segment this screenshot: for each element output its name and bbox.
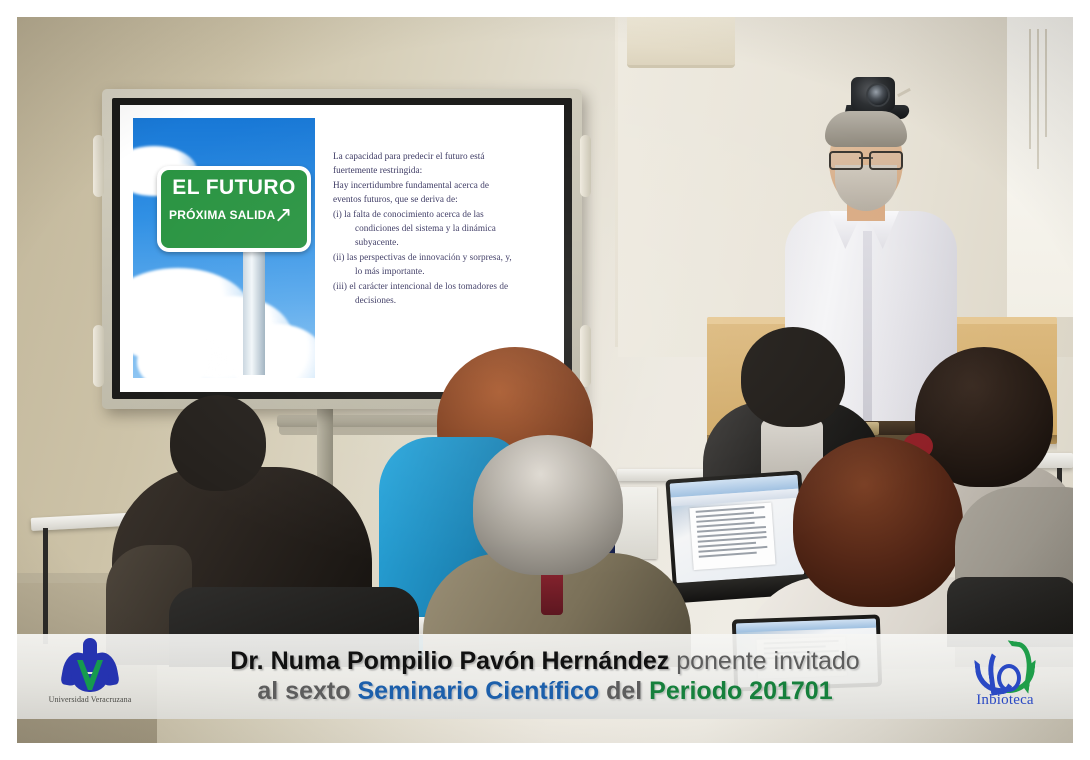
eyeglasses-icon [829, 151, 903, 166]
audience-head [473, 435, 623, 575]
caption-line-2: al sexto Seminario Científico del Period… [157, 677, 933, 707]
speaker-role: ponente invitado [669, 647, 859, 675]
inbioteca-logo: Inbioteca [946, 642, 1064, 718]
logo-label: Universidad Veracruzana [30, 695, 150, 704]
presenter-hair [825, 111, 907, 147]
fleur-de-lis-icon [57, 640, 123, 692]
slide-line: eventos futuros, que se deriva de: [333, 192, 550, 206]
camera-body [851, 77, 895, 111]
watermark-label: Banco [143, 364, 173, 370]
slide-line: decisiones. [333, 293, 550, 307]
road-sign-subtitle: PRÓXIMA SALIDA [169, 208, 275, 222]
window-right [1007, 17, 1073, 317]
slide-line: condiciones del sistema y la dinámica [333, 221, 550, 235]
event-name: Seminario Científico [357, 677, 599, 705]
blind-cord [1029, 29, 1031, 149]
board-handle [580, 135, 591, 197]
audience-head [793, 437, 963, 607]
board-handle [93, 135, 104, 197]
slide-line: La capacidad para predecir el futuro est… [333, 149, 550, 163]
period-label: Periodo 201701 [649, 677, 832, 705]
arrow-up-right-icon: ↗ [274, 206, 296, 228]
plant-flame-icon [974, 642, 1036, 690]
audience-head [170, 395, 266, 491]
camera-lens-icon [868, 85, 888, 105]
desk-leg [43, 528, 48, 644]
slide-line: (i) la falta de conocimiento acerca de l… [333, 207, 550, 221]
slide-photo-road-sign: EL FUTURO PRÓXIMA SALIDA ↗ Banco [133, 118, 315, 378]
speaker-name: Dr. Numa Pompilio Pavón Hernández [230, 647, 669, 675]
wall-seam [615, 17, 618, 347]
caption-middle: del [599, 677, 649, 705]
caption-prefix: al sexto [257, 677, 357, 705]
window-blind [627, 17, 735, 68]
slide-line: Hay incertidumbre fundamental acerca de [333, 178, 550, 192]
blind-cord [1037, 29, 1039, 169]
presenter-beard [835, 165, 897, 211]
slide-line: (iii) el carácter intencional de los tom… [333, 279, 550, 293]
logo-label: Inbioteca [946, 692, 1064, 709]
board-handle [93, 325, 104, 387]
slide-watermark: Banco [143, 340, 173, 370]
road-sign-title: EL FUTURO [161, 177, 307, 198]
slide-line: subyacente. [333, 235, 550, 249]
camera-antenna [897, 88, 911, 97]
slide-line: fuertemente restringida: [333, 163, 550, 177]
road-sign: EL FUTURO PRÓXIMA SALIDA ↗ [157, 166, 311, 252]
blind-cord [1045, 29, 1047, 137]
caption-line-1: Dr. Numa Pompilio Pavón Hernández ponent… [157, 647, 933, 677]
audience-member [437, 435, 677, 665]
photo-frame: smart EL FUTURO [0, 0, 1090, 760]
slide-line: (ii) las perspectivas de innovación y so… [333, 250, 550, 264]
universidad-veracruzana-logo: Universidad Veracruzana [30, 640, 150, 718]
audience-head [741, 327, 845, 427]
slide-line: lo más importante. [333, 264, 550, 278]
caption-banner: Dr. Numa Pompilio Pavón Hernández ponent… [17, 634, 1073, 719]
camera-icon [143, 340, 173, 363]
app-titlebar [736, 619, 876, 633]
caption-text: Dr. Numa Pompilio Pavón Hernández ponent… [17, 647, 1073, 706]
